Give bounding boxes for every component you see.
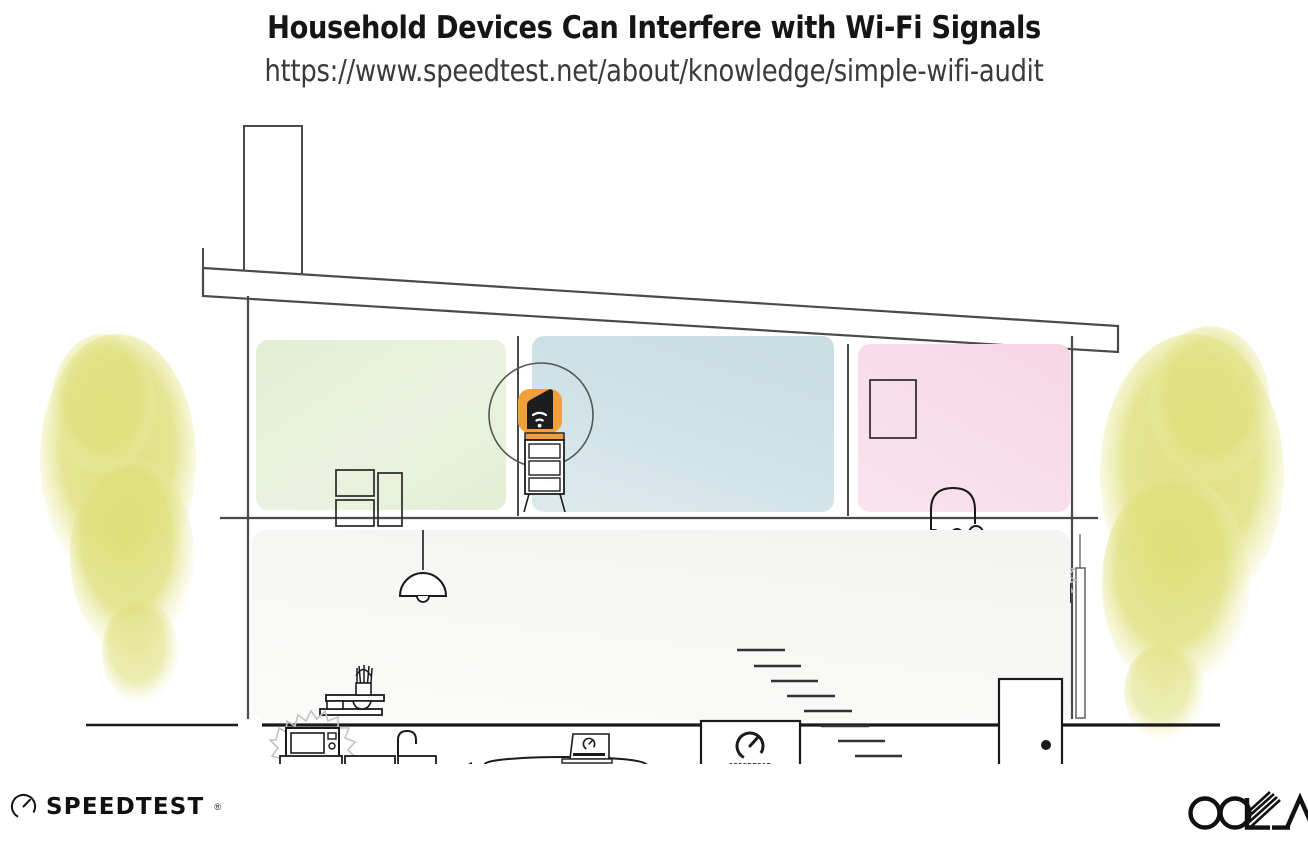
- television: SPEEDTEST: [701, 721, 800, 764]
- screen-wordmark: SPEEDTEST: [729, 763, 771, 764]
- house-cutaway-svg: SPEEDTEST: [0, 104, 1308, 764]
- laptop: [562, 734, 612, 763]
- registered-mark: ®: [214, 802, 221, 812]
- ookla-logo: [1184, 789, 1308, 840]
- speedtest-wordmark: SPEEDTEST: [46, 794, 204, 820]
- ookla-wordmark-icon: [1184, 789, 1308, 835]
- source-url: https://www.speedtest.net/about/knowledg…: [92, 54, 1217, 89]
- door-knob: [1041, 740, 1051, 750]
- tree-left: [40, 334, 196, 704]
- infographic-page: Household Devices Can Interfere with Wi-…: [0, 0, 1308, 861]
- room-downstairs: SPEEDTEST: [252, 530, 1070, 764]
- speedtest-gauge-icon: [10, 793, 37, 820]
- house-illustration: SPEEDTEST: [0, 104, 1308, 764]
- tree-right: [1100, 326, 1284, 740]
- header: Household Devices Can Interfere with Wi-…: [0, 0, 1308, 89]
- chimney: [244, 126, 302, 278]
- sink-faucet: [398, 731, 416, 756]
- footer: SPEEDTEST ®: [0, 771, 1308, 861]
- wifi-router[interactable]: [518, 389, 562, 433]
- speedtest-logo: SPEEDTEST ®: [10, 793, 221, 820]
- page-title: Household Devices Can Interfere with Wi-…: [78, 10, 1229, 46]
